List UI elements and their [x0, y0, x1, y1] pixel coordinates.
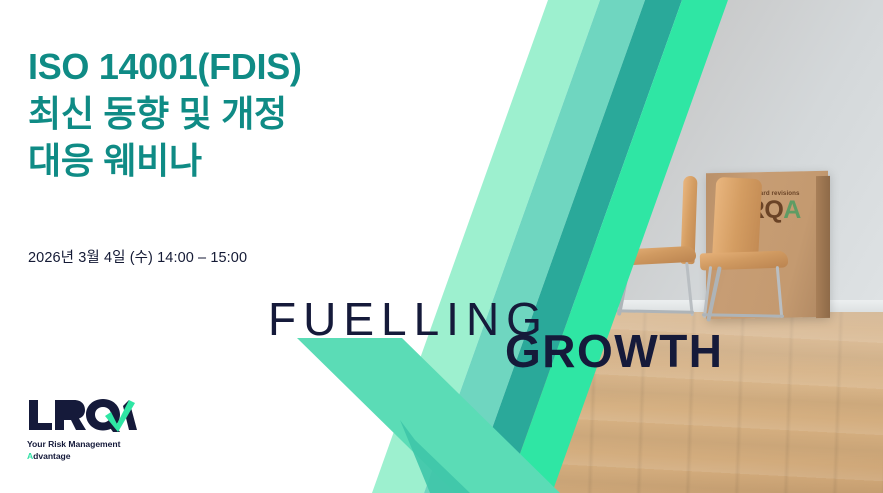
- lrqa-tagline-rest: dvantage: [33, 451, 70, 461]
- tagline-growth: GROWTH: [505, 328, 724, 374]
- lrqa-logo: Your Risk Management Advantage: [27, 398, 157, 463]
- lrqa-wordmark: [27, 398, 139, 432]
- lrqa-tagline-line2: Advantage: [27, 450, 157, 462]
- lrqa-wordmark-svg: [27, 398, 139, 432]
- lrqa-tagline: Your Risk Management Advantage: [27, 438, 157, 463]
- lrqa-tagline-line1: Your Risk Management: [27, 438, 157, 450]
- webinar-datetime: 2026년 3월 4일 (수) 14:00 – 15:00: [28, 246, 247, 267]
- webinar-banner: ISO standard revisions LRQA: [0, 0, 883, 493]
- page-title: ISO 14001(FDIS) 최신 동향 및 개정 대응 웨비나: [28, 44, 448, 184]
